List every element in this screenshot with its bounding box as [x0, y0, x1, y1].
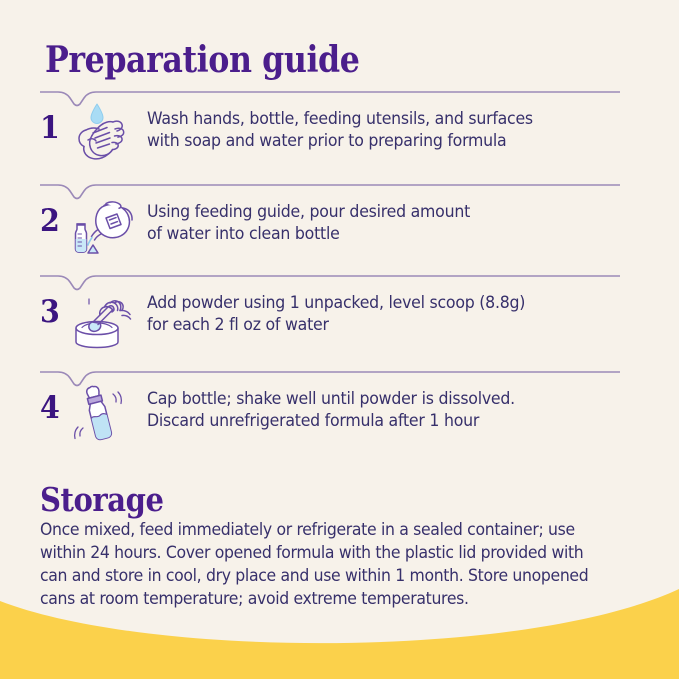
shaking-bottle-icon — [66, 380, 138, 446]
preparation-step: 2 — [0, 181, 679, 271]
step-text: Cap bottle; shake well until powder is d… — [147, 388, 625, 432]
washing-hands-icon — [66, 100, 138, 166]
preparation-guide-panel: Preparation guide 1 — [0, 0, 679, 679]
step-text: Wash hands, bottle, feeding utensils, an… — [147, 108, 625, 152]
step-text: Using feeding guide, pour desired amount… — [147, 201, 625, 245]
bottom-decorative-band — [0, 584, 679, 679]
page-title: Preparation guide — [45, 40, 359, 80]
preparation-step: 1 — [0, 88, 679, 178]
step-text: Add powder using 1 unpacked, level scoop… — [147, 292, 625, 336]
kettle-pouring-bottle-icon — [66, 193, 138, 259]
preparation-step: 4 — [0, 368, 679, 458]
storage-title: Storage — [40, 481, 164, 519]
hand-scoop-can-icon — [66, 284, 138, 350]
preparation-step: 3 — [0, 272, 679, 362]
